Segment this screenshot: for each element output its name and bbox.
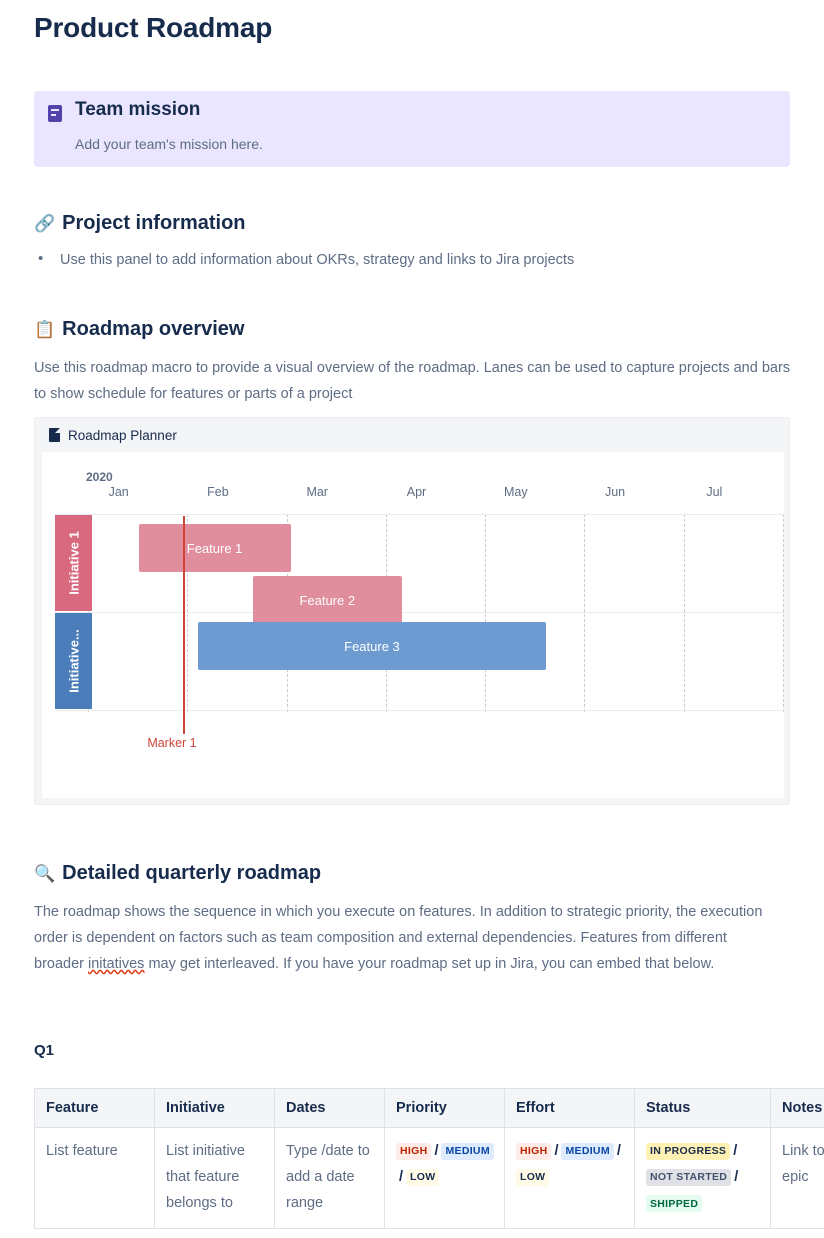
quarter-label: Q1 xyxy=(34,1042,54,1059)
timeline-month-feb: Feb xyxy=(188,485,248,499)
timeline-month-may: May xyxy=(486,485,546,499)
table-cell-dates[interactable]: Type /date to add a date range xyxy=(275,1128,385,1229)
table-row: List featureList initiative that feature… xyxy=(35,1128,824,1229)
roadmap-table-wrapper: Feature Initiative Dates Priority Effort… xyxy=(34,1088,824,1229)
roadmap-bar-feature-3[interactable]: Feature 3 xyxy=(198,622,546,670)
roadmap-marker-line[interactable] xyxy=(183,516,185,734)
roadmap-bar-label: Feature 3 xyxy=(344,639,400,654)
table-header-initiative[interactable]: Initiative xyxy=(155,1089,275,1128)
table-cell-notes[interactable]: Link to page or epic xyxy=(771,1128,824,1229)
detailed-roadmap-heading-text: Detailed quarterly roadmap xyxy=(62,862,321,885)
roadmap-overview-description: Use this roadmap macro to provide a visu… xyxy=(34,355,794,407)
roadmap-table[interactable]: Feature Initiative Dates Priority Effort… xyxy=(34,1088,824,1229)
timeline-gridline xyxy=(584,514,586,712)
table-header-priority[interactable]: Priority xyxy=(385,1089,505,1128)
team-mission-body: Add your team's mission here. xyxy=(75,136,263,152)
status-badge[interactable]: MEDIUM xyxy=(441,1143,493,1160)
status-badge[interactable]: SHIPPED xyxy=(646,1195,702,1212)
timeline-gridline xyxy=(783,514,785,712)
table-header-feature[interactable]: Feature xyxy=(35,1089,155,1128)
roadmap-overview-heading-text: Roadmap overview xyxy=(62,318,244,341)
table-header-notes[interactable]: Notes xyxy=(771,1089,824,1128)
badge-separator: / xyxy=(614,1138,624,1164)
table-header-status[interactable]: Status xyxy=(635,1089,771,1128)
badge-separator: / xyxy=(730,1138,740,1164)
status-badge[interactable]: HIGH xyxy=(396,1143,431,1160)
timeline-row-divider xyxy=(55,612,784,613)
roadmap-marker-label[interactable]: Marker 1 xyxy=(147,736,196,750)
page-root: Product Roadmap Team mission Add your te… xyxy=(0,0,824,1238)
project-information-bullets: Use this panel to add information about … xyxy=(34,250,574,270)
link-icon: 🔗 xyxy=(34,215,55,232)
timeline-month-mar: Mar xyxy=(287,485,347,499)
document-icon xyxy=(49,428,60,442)
detailed-roadmap-heading: 🔍 Detailed quarterly roadmap xyxy=(34,862,321,885)
team-mission-panel[interactable]: Team mission Add your team's mission her… xyxy=(34,91,790,167)
timeline-row-divider xyxy=(55,710,784,711)
misspelled-word: initatives xyxy=(88,956,144,972)
timeline-gridline xyxy=(485,514,487,712)
page-title: Product Roadmap xyxy=(34,12,272,44)
status-badge[interactable]: LOW xyxy=(406,1169,439,1186)
roadmap-planner-title: Roadmap Planner xyxy=(68,428,177,443)
badge-separator: / xyxy=(551,1138,561,1164)
status-badge[interactable]: LOW xyxy=(516,1169,549,1186)
detailed-roadmap-paragraph: The roadmap shows the sequence in which … xyxy=(34,899,779,977)
roadmap-table-body: List featureList initiative that feature… xyxy=(35,1128,824,1229)
table-cell-status[interactable]: IN PROGRESS/NOT STARTED/SHIPPED xyxy=(635,1128,771,1229)
roadmap-bar-feature-2[interactable]: Feature 2 xyxy=(253,576,402,624)
timeline-month-jan: Jan xyxy=(89,485,149,499)
paragraph-text-part2: may get interleaved. If you have your ro… xyxy=(144,956,714,972)
project-information-heading-text: Project information xyxy=(62,212,245,235)
roadmap-planner-header: Roadmap Planner xyxy=(35,418,789,452)
status-badge[interactable]: IN PROGRESS xyxy=(646,1143,730,1160)
badge-separator: / xyxy=(731,1164,741,1190)
table-header-row: Feature Initiative Dates Priority Effort… xyxy=(35,1089,824,1128)
note-panel-icon xyxy=(48,105,62,122)
timeline-gridline xyxy=(684,514,686,712)
status-badge[interactable]: NOT STARTED xyxy=(646,1169,731,1186)
roadmap-bar-label: Feature 2 xyxy=(299,593,355,608)
badge-separator: / xyxy=(396,1164,406,1190)
table-cell-effort[interactable]: HIGH/MEDIUM/LOW xyxy=(505,1128,635,1229)
list-item: Use this panel to add information about … xyxy=(34,250,574,270)
roadmap-timeline-canvas[interactable]: 2020JanFebMarAprMayJunJulInitiative 1Ini… xyxy=(42,452,784,798)
badge-separator: / xyxy=(431,1138,441,1164)
lane-label-text: Initiative 1 xyxy=(66,531,81,595)
timeline-month-apr: Apr xyxy=(387,485,447,499)
magnifier-icon: 🔍 xyxy=(34,865,55,882)
timeline-row-divider xyxy=(55,514,784,515)
status-badge[interactable]: HIGH xyxy=(516,1143,551,1160)
roadmap-bar-feature-1[interactable]: Feature 1 xyxy=(139,524,291,572)
table-header-effort[interactable]: Effort xyxy=(505,1089,635,1128)
roadmap-planner-macro[interactable]: Roadmap Planner 2020JanFebMarAprMayJunJu… xyxy=(34,417,790,805)
project-information-heading: 🔗 Project information xyxy=(34,212,246,235)
table-cell-feature[interactable]: List feature xyxy=(35,1128,155,1229)
team-mission-title: Team mission xyxy=(75,99,200,121)
roadmap-bar-label: Feature 1 xyxy=(187,541,243,556)
timeline-month-jun: Jun xyxy=(585,485,645,499)
status-badge[interactable]: MEDIUM xyxy=(561,1143,613,1160)
clipboard-icon: 📋 xyxy=(34,321,55,338)
roadmap-lane-1[interactable]: Initiative 1 xyxy=(55,515,92,611)
timeline-year-label: 2020 xyxy=(86,470,113,484)
table-cell-initiative[interactable]: List initiative that feature belongs to xyxy=(155,1128,275,1229)
timeline-month-jul: Jul xyxy=(684,485,744,499)
lane-label-text: Initiative... xyxy=(66,629,81,693)
roadmap-lane-2[interactable]: Initiative... xyxy=(55,613,92,709)
table-header-dates[interactable]: Dates xyxy=(275,1089,385,1128)
roadmap-overview-heading: 📋 Roadmap overview xyxy=(34,318,244,341)
table-cell-priority[interactable]: HIGH/MEDIUM/LOW xyxy=(385,1128,505,1229)
